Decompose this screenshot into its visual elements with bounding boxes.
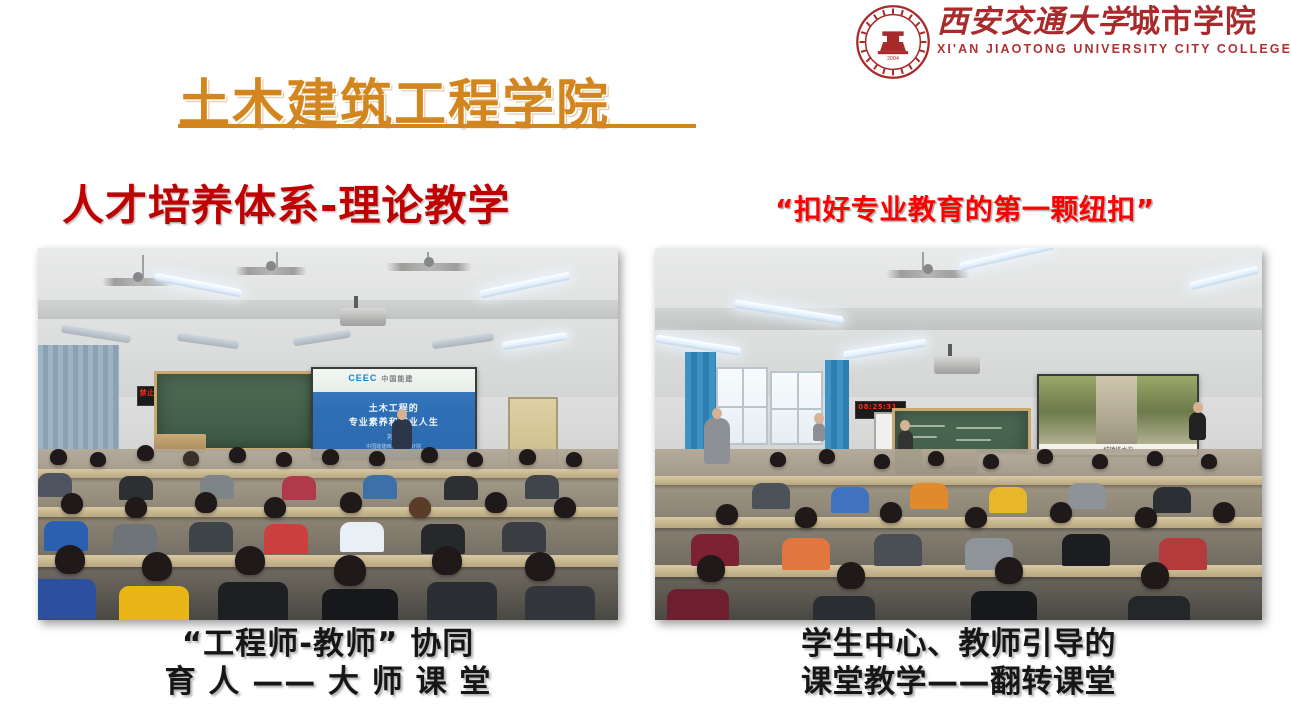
- student-body: [264, 524, 308, 554]
- window-curtain: [825, 360, 849, 449]
- logo-chinese-name: 西安交通大学城市学院: [937, 6, 1291, 39]
- student-head: [61, 493, 83, 514]
- student-head: [554, 497, 576, 518]
- student-body: [910, 483, 948, 509]
- screen-title-line1: 土木工程的: [313, 401, 475, 414]
- student-body: [813, 596, 875, 620]
- student-head: [235, 546, 265, 575]
- student-body: [874, 534, 922, 566]
- screen-brand-cn: 中国能建: [381, 376, 413, 383]
- student-head: [409, 497, 431, 518]
- screen-brand-en: CEEC: [348, 373, 377, 383]
- projector: [340, 308, 386, 326]
- student-head: [697, 555, 725, 582]
- right-classroom-photo: 08:25:31 城镇排水沟: [655, 248, 1262, 620]
- svg-text:2004: 2004: [887, 56, 899, 62]
- student-presenter: [1189, 412, 1206, 440]
- student-head: [467, 452, 483, 467]
- student-body: [1153, 487, 1191, 513]
- student-head: [369, 451, 385, 466]
- student-head: [1092, 454, 1108, 469]
- student-head: [421, 447, 438, 463]
- student-head: [819, 449, 835, 464]
- student-body: [502, 522, 546, 552]
- student-head: [1201, 454, 1217, 469]
- logo-chinese-block: 城市学院: [1129, 4, 1257, 40]
- student-body: [427, 582, 497, 620]
- desk-row: [655, 476, 1262, 485]
- student-head: [795, 507, 817, 528]
- student-head: [137, 445, 154, 461]
- lecturer: [392, 419, 412, 449]
- left-photo-caption: “工程师-教师” 协同 育 人 —— 大 师 课 堂: [38, 626, 618, 702]
- right-caption-line2: 课堂教学——翻转课堂: [655, 664, 1262, 702]
- student-head: [142, 552, 172, 581]
- student-body: [282, 476, 316, 500]
- student-head: [965, 507, 987, 528]
- student-head: [229, 447, 246, 463]
- student-body: [444, 476, 478, 500]
- student-head: [485, 492, 507, 513]
- student-head: [874, 454, 890, 469]
- student-head: [519, 449, 536, 465]
- student-head: [837, 562, 865, 589]
- student-head: [264, 497, 286, 518]
- student-head: [525, 552, 555, 581]
- student-head: [1037, 449, 1053, 464]
- left-caption-line1: “工程师-教师” 协同: [182, 626, 474, 662]
- student-head: [995, 557, 1023, 584]
- student-body: [525, 475, 559, 499]
- student-head: [50, 449, 67, 465]
- student-body: [38, 579, 96, 619]
- audience-seating: [655, 449, 1262, 620]
- student-head: [55, 545, 85, 574]
- screen-brand-logo: CEEC中国能建: [348, 373, 413, 384]
- student-body: [525, 586, 595, 620]
- right-section-heading: “扣好专业教育的第一颗纽扣”: [775, 188, 1155, 228]
- student-head: [125, 497, 147, 518]
- university-seal-icon: 2004: [855, 4, 931, 80]
- title-underline: [178, 124, 696, 128]
- window-curtain: [38, 345, 119, 449]
- student-body: [218, 582, 288, 620]
- student-head: [880, 502, 902, 523]
- student-body: [782, 538, 830, 570]
- student-body: [113, 524, 157, 554]
- student-head: [1141, 562, 1169, 589]
- student-body: [831, 487, 869, 513]
- student-body: [752, 483, 790, 509]
- student-head: [195, 492, 217, 513]
- standing-student: [704, 418, 730, 464]
- student-head: [1135, 507, 1157, 528]
- ceiling-fan: [235, 267, 307, 275]
- student-body: [1062, 534, 1110, 566]
- student-body: [1128, 596, 1190, 620]
- desk-row: [655, 517, 1262, 527]
- student-head: [928, 451, 944, 466]
- student-head: [334, 555, 366, 586]
- student-head: [276, 452, 292, 467]
- student-head: [340, 492, 362, 513]
- student-head: [1147, 451, 1163, 466]
- student-head: [1050, 502, 1072, 523]
- left-classroom-photo: 禁止吸烟 CEEC中国能建 土木工程的 专业素养和职业人生 刘 某 中国能建西北…: [38, 248, 618, 620]
- student-head: [90, 452, 106, 467]
- student-body: [340, 522, 384, 552]
- left-caption-line2: 育 人 —— 大 师 课 堂: [38, 664, 618, 702]
- ceiling-beam: [655, 308, 1262, 330]
- student-head: [432, 546, 462, 575]
- student-head: [183, 451, 199, 466]
- student-head: [770, 452, 786, 467]
- student-body: [1068, 483, 1106, 509]
- student-body: [322, 589, 398, 620]
- student-body: [971, 591, 1037, 620]
- ceiling-fan: [386, 263, 472, 271]
- right-caption-line1: 学生中心、教师引导的: [801, 626, 1116, 662]
- ceiling-beam: [38, 300, 618, 319]
- student-head: [716, 504, 738, 525]
- university-logo: 2004 西安交通大学城市学院 XI'AN JIAOTONG UNIVERSIT…: [855, 4, 1285, 86]
- student-body: [189, 522, 233, 552]
- right-photo-caption: 学生中心、教师引导的 课堂教学——翻转课堂: [655, 626, 1262, 702]
- standing-person: [813, 423, 825, 441]
- student-head: [322, 449, 339, 465]
- audience-seating: [38, 449, 618, 620]
- ceiling-fan: [886, 270, 970, 278]
- logo-english-name: XI'AN JIAOTONG UNIVERSITY CITY COLLEGE: [937, 42, 1291, 56]
- student-body: [363, 475, 397, 499]
- student-head: [566, 452, 582, 467]
- projector: [934, 356, 980, 374]
- student-body: [119, 586, 189, 620]
- student-head: [983, 454, 999, 469]
- student-body: [667, 589, 729, 620]
- student-body: [989, 487, 1027, 513]
- student-head: [1213, 502, 1235, 523]
- projection-screen: 城镇排水沟: [1037, 374, 1199, 456]
- student-body: [1159, 538, 1207, 570]
- logo-chinese-script: 西安交通大学: [937, 4, 1129, 40]
- left-section-heading: 人才培养体系-理论教学: [62, 172, 510, 233]
